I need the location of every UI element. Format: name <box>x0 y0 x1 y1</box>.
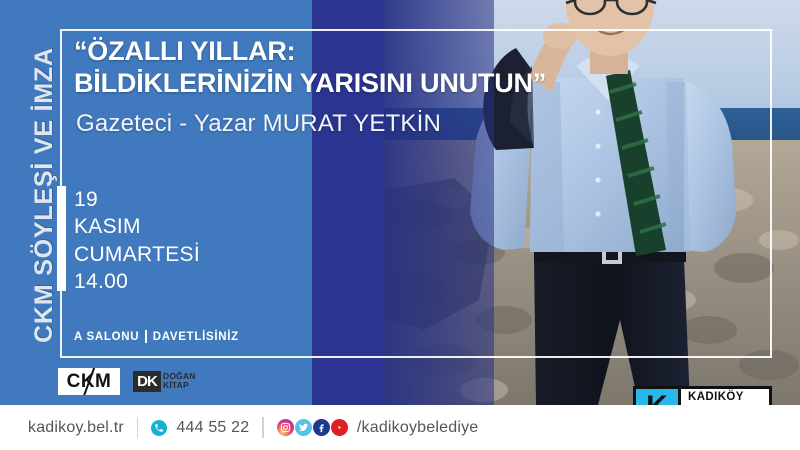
event-time: 14.00 <box>74 268 200 295</box>
vertical-event-label: CKM SÖYLEŞİ VE İMZA <box>24 15 64 375</box>
instagram-icon[interactable] <box>277 419 294 436</box>
event-date-block: 19 KASIM CUMARTESİ 14.00 <box>74 186 200 295</box>
municipality-line-1: KADIKÖY <box>681 389 769 405</box>
venue-invite: DAVETLİSİNİZ <box>153 331 239 343</box>
dogan-kitap-line-2: KİTAP <box>163 381 196 390</box>
event-month: KASIM <box>74 213 200 240</box>
sponsor-logos: CKM DK DOĞAN KİTAP <box>58 368 196 395</box>
facebook-icon[interactable] <box>313 419 330 436</box>
speaker-name: Gazeteci - Yazar MURAT YETKİN <box>76 110 441 138</box>
social-icons <box>277 419 348 436</box>
event-day: 19 <box>74 186 200 213</box>
footer-divider-1 <box>137 417 139 438</box>
footer-bar: kadikoy.bel.tr 444 55 22 <box>0 405 800 450</box>
social-handle[interactable]: /kadikoybelediye <box>357 419 479 437</box>
youtube-icon[interactable] <box>331 419 348 436</box>
phone-number[interactable]: 444 55 22 <box>176 419 249 437</box>
headline: “ÖZALLI YILLAR: BİLDİKLERİNİZİN YARISINI… <box>74 36 764 100</box>
event-poster: CKM SÖYLEŞİ VE İMZA “ÖZALLI YILLAR: BİLD… <box>0 0 800 450</box>
ckm-logo: CKM <box>58 368 120 395</box>
headline-line-1: “ÖZALLI YILLAR: <box>74 36 764 68</box>
twitter-icon[interactable] <box>295 419 312 436</box>
headline-line-2: BİLDİKLERİNİZİN YARISINI UNUTUN” <box>74 68 764 100</box>
dogan-kitap-mark: DK <box>133 371 161 392</box>
dogan-kitap-logo: DK DOĞAN KİTAP <box>133 371 196 392</box>
dogan-kitap-wordmark: DOĞAN KİTAP <box>163 371 196 390</box>
venue-hall: A SALONU <box>74 331 139 343</box>
footer-divider-2 <box>262 417 264 438</box>
venue-separator <box>145 330 147 343</box>
venue-info: A SALONU DAVETLİSİNİZ <box>74 330 239 343</box>
event-weekday: CUMARTESİ <box>74 241 200 268</box>
website-link[interactable]: kadikoy.bel.tr <box>28 419 124 437</box>
phone-icon <box>151 420 167 436</box>
decorative-frame-right-edge <box>770 29 772 358</box>
